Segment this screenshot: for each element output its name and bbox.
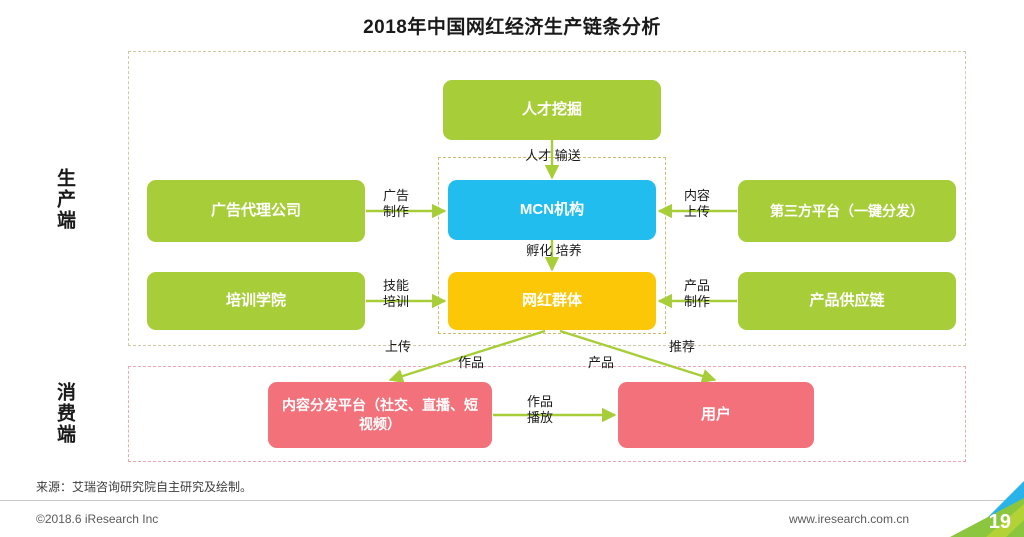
- arrow-label-product-making: 产品 制作: [676, 278, 718, 309]
- source-note: 来源：艾瑞咨询研究院自主研究及绘制。: [36, 478, 252, 495]
- footer-divider: [0, 500, 1024, 501]
- arrow-label-content-upload: 内容 上传: [676, 188, 718, 219]
- arrow-label-recommend: 推荐: [660, 339, 704, 355]
- page-number: 19: [989, 511, 1011, 534]
- arrow-label-ad-production: 广告 制作: [376, 188, 416, 219]
- slide-canvas: 2018年中国网红经济生产链条分析 生产端 消费端 人才挖掘 MCN机构 网红群…: [0, 0, 1024, 537]
- arrow-label-works-play: 作品 播放: [518, 394, 562, 425]
- arrow-label-skill-training: 技能 培训: [376, 278, 416, 309]
- arrow-label-talent-delivery: 人才 输送: [505, 148, 601, 164]
- section-label-consumption: 消费端: [55, 382, 74, 445]
- node-influencer-group[interactable]: 网红群体: [448, 272, 656, 330]
- node-third-party-platform[interactable]: 第三方平台（一键分发）: [738, 180, 956, 242]
- website-url: www.iresearch.com.cn: [789, 512, 909, 526]
- arrow-label-incubate-cultivate: 孵化 培养: [500, 243, 608, 259]
- arrow-label-works: 作品: [450, 355, 492, 371]
- section-label-production: 生产端: [55, 168, 74, 231]
- node-user[interactable]: 用户: [618, 382, 814, 448]
- arrow-label-upload: 上传: [378, 339, 418, 355]
- arrow-label-product: 产品: [580, 355, 622, 371]
- node-product-supply-chain[interactable]: 产品供应链: [738, 272, 956, 330]
- node-content-distribution-platform[interactable]: 内容分发平台（社交、直播、短视频）: [268, 382, 492, 448]
- node-mcn-agency[interactable]: MCN机构: [448, 180, 656, 240]
- page-title: 2018年中国网红经济生产链条分析: [0, 12, 1024, 39]
- node-talent-discovery[interactable]: 人才挖掘: [443, 80, 661, 140]
- node-ad-agency[interactable]: 广告代理公司: [147, 180, 365, 242]
- copyright-text: ©2018.6 iResearch Inc: [36, 512, 158, 526]
- node-training-academy[interactable]: 培训学院: [147, 272, 365, 330]
